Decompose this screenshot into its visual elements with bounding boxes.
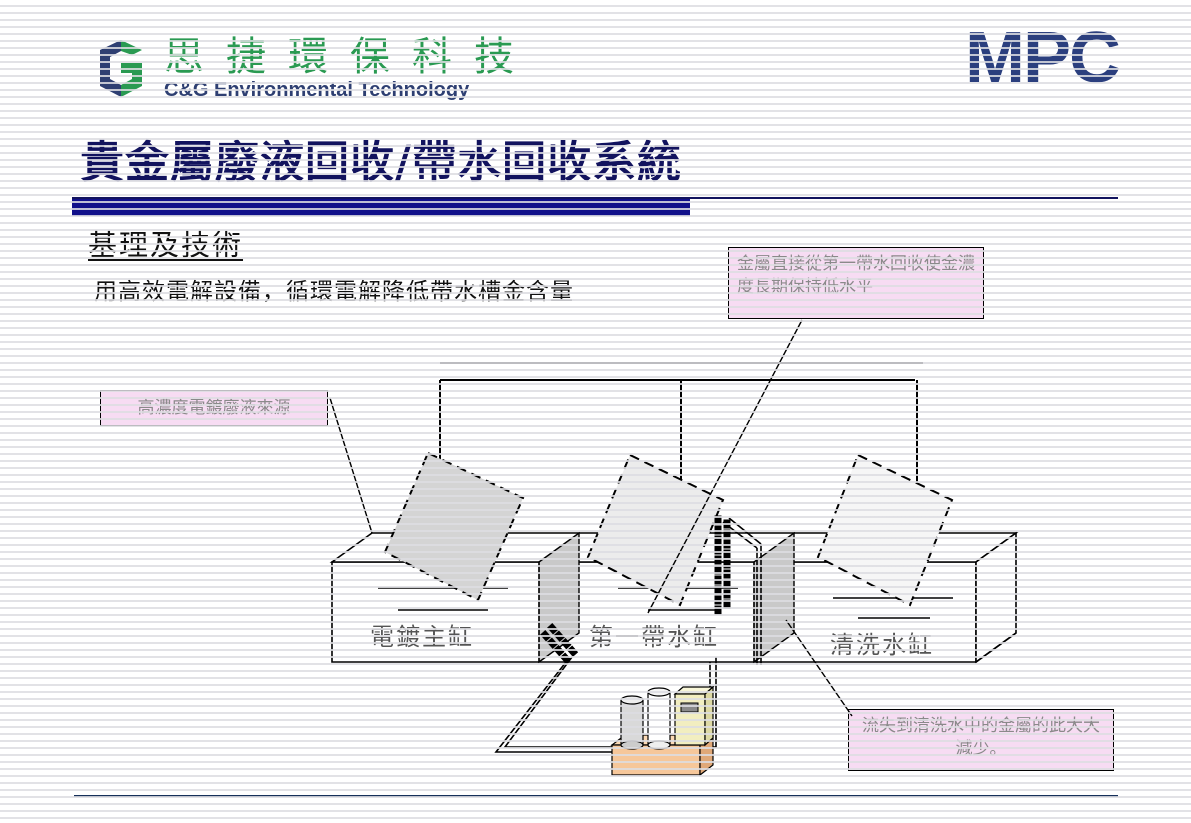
tank-label-2: 第一帶水缸 bbox=[589, 624, 719, 651]
process-diagram: 電鍍主缸 第一帶水缸 清洗水缸 bbox=[0, 0, 1191, 823]
slide-canvas: 思 捷 環 保 科 技 C&G Environmental Technology… bbox=[0, 0, 1191, 823]
electrolysis-unit bbox=[612, 687, 713, 775]
tank-label-3: 清洗水缸 bbox=[830, 632, 934, 659]
tank-label-1: 電鍍主缸 bbox=[370, 624, 474, 651]
